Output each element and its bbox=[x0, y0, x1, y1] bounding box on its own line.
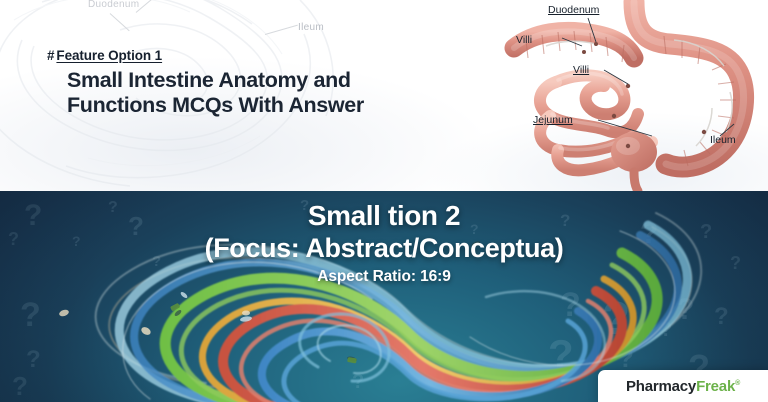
poster-subtitle: (Focus: Abstract/Conceptua) bbox=[0, 232, 768, 265]
logo-trademark-icon: ® bbox=[735, 380, 740, 387]
pharmacyfreak-logo-badge[interactable]: PharmacyFreak® bbox=[598, 370, 768, 402]
anatomy-label-jejunum: Jejunum bbox=[533, 114, 573, 126]
intestine-anatomy-svg bbox=[438, 0, 768, 191]
watermark-label-ileum: Ileum bbox=[298, 22, 324, 33]
anatomy-label-villi-upper: Villi bbox=[516, 34, 532, 46]
small-intestine-illustration: Duodenum Villi Villi Jejunum Ileum bbox=[438, 0, 768, 191]
anatomy-label-ileum: Ileum bbox=[710, 134, 736, 146]
feature-option-tag: #Feature Option 1 bbox=[47, 48, 364, 63]
logo-secondary-word: Freak bbox=[696, 378, 735, 395]
watermark-leader-ileum bbox=[265, 25, 298, 35]
feature-option-label: Feature Option 1 bbox=[56, 48, 162, 63]
title-line-1: Small Intestine Anatomy and bbox=[67, 68, 364, 93]
poster-canvas: Duodenum Ileum #Feature Option 1 Small I… bbox=[0, 0, 768, 402]
logo-text: PharmacyFreak® bbox=[626, 378, 740, 395]
page-title: Small Intestine Anatomy and Functions MC… bbox=[47, 68, 364, 118]
watermark-leader-duodenum bbox=[110, 13, 130, 31]
watermark-label-duodenum: Duodenum bbox=[88, 0, 139, 10]
anatomy-label-villi-lower: Villi bbox=[573, 64, 589, 76]
poster-text-block: Small tion 2 (Focus: Abstract/Conceptua)… bbox=[0, 199, 768, 288]
headline-block: #Feature Option 1 Small Intestine Anatom… bbox=[47, 48, 364, 118]
poster-title: Small tion 2 bbox=[0, 199, 768, 232]
title-line-2: Functions MCQs With Answer bbox=[67, 93, 364, 118]
anatomy-label-duodenum: Duodenum bbox=[548, 4, 599, 16]
hash-symbol: # bbox=[47, 48, 54, 63]
bottom-poster-panel: ? ? ? ? ? ? ? ? ? ? ? ? ? ? ? ? ? ? ? ? … bbox=[0, 191, 768, 402]
logo-primary-word: Pharmacy bbox=[626, 378, 696, 395]
aspect-ratio-label: Aspect Ratio: 16:9 bbox=[0, 266, 768, 288]
top-banner-panel: Duodenum Ileum #Feature Option 1 Small I… bbox=[0, 0, 768, 191]
